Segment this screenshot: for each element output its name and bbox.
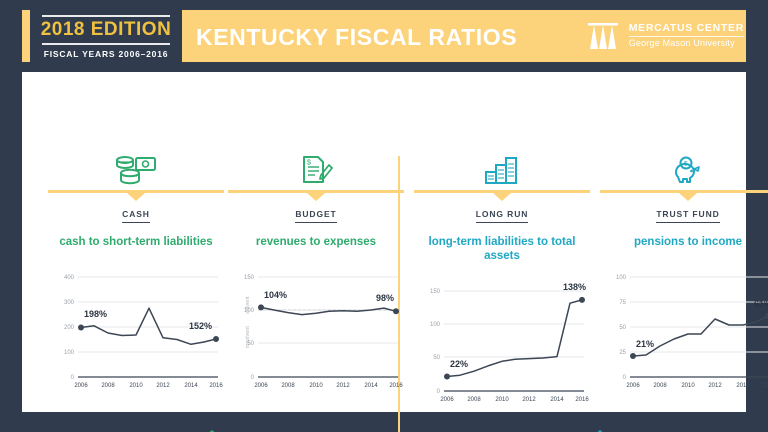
panel-cash: CASH cash to short-term liabilities 4003…: [48, 152, 224, 395]
end-point: [213, 336, 219, 342]
y-axis-ticks: 150100 500: [430, 289, 441, 395]
start-point: [258, 304, 264, 310]
logo-divider: [629, 36, 744, 37]
svg-text:2016: 2016: [761, 383, 768, 389]
start-point: [444, 374, 450, 380]
panel-gold-rule: [228, 190, 404, 193]
budget-document-icon: $: [228, 152, 404, 188]
svg-text:100: 100: [616, 275, 627, 281]
svg-text:300: 300: [64, 300, 75, 306]
chart-long-run-svg: 150100 500 200620082010 201220142016 22%…: [414, 279, 590, 409]
panel-label-budget: BUDGET: [228, 209, 404, 219]
svg-text:200: 200: [64, 325, 75, 331]
svg-text:2008: 2008: [101, 383, 115, 389]
svg-text:2016: 2016: [389, 383, 403, 389]
content-sheet: CASH cash to short-term liabilities 4003…: [22, 72, 746, 412]
panel-title-long-run: long-term liabilities to total assets: [414, 235, 590, 263]
chart-trust-fund-svg: 10075 5025 0 200620082010 201220142016 2…: [600, 265, 768, 395]
edition-badge-title: 2018 EDITION: [30, 17, 182, 41]
x-axis-ticks: 200620082010 201220142016: [626, 383, 768, 389]
svg-text:50: 50: [433, 355, 440, 361]
start-value-label: 198%: [84, 309, 107, 319]
chart-budget-svg: 150100 500 solvent insolvent 20062008201…: [228, 265, 404, 395]
svg-text:$: $: [307, 160, 311, 167]
chart-budget: 150100 500 solvent insolvent 20062008201…: [228, 265, 404, 395]
series-line: [633, 316, 768, 356]
panel-trust-fund: $ TRUST FUND pensions to income: [600, 152, 768, 395]
panel-label-trust-fund: TRUST FUND: [600, 209, 768, 219]
page-title: KENTUCKY FISCAL RATIOS: [196, 24, 517, 51]
svg-text:2008: 2008: [467, 397, 481, 403]
svg-text:2012: 2012: [336, 383, 350, 389]
logo-name: MERCATUS CENTER: [629, 22, 744, 34]
svg-text:2010: 2010: [681, 383, 695, 389]
svg-text:2008: 2008: [281, 383, 295, 389]
svg-text:2016: 2016: [209, 383, 223, 389]
end-point: [579, 297, 585, 303]
svg-text:0: 0: [623, 375, 627, 381]
svg-text:0: 0: [71, 375, 75, 381]
end-point: [393, 308, 399, 314]
svg-text:$: $: [684, 161, 688, 168]
gridlines: [444, 291, 584, 357]
svg-text:2012: 2012: [708, 383, 722, 389]
svg-text:150: 150: [430, 289, 441, 295]
edition-badge-subtitle: FISCAL YEARS 2006–2016: [30, 45, 182, 59]
infographic-page: 2018 EDITION FISCAL YEARS 2006–2016 KENT…: [0, 0, 768, 432]
y-axis-ticks: 10075 5025 0: [616, 275, 627, 381]
svg-text:2012: 2012: [156, 383, 170, 389]
svg-text:100: 100: [64, 350, 75, 356]
chart-cash-svg: 400300 200100 0 200620082010 20122014201…: [48, 265, 224, 395]
edition-badge: 2018 EDITION FISCAL YEARS 2006–2016: [30, 10, 182, 62]
svg-text:150: 150: [244, 275, 255, 281]
svg-text:100: 100: [430, 322, 441, 328]
y-axis-ticks: 400300 200100 0: [64, 275, 75, 381]
svg-text:0: 0: [251, 375, 255, 381]
x-axis-ticks: 200620082010 201220142016: [74, 383, 223, 389]
svg-text:2006: 2006: [254, 383, 268, 389]
svg-text:2014: 2014: [736, 383, 750, 389]
panel-gold-rule: [414, 190, 590, 193]
start-value-label: 21%: [636, 339, 654, 349]
start-value-label: 104%: [264, 290, 287, 300]
panel-budget: $ BUDGET revenues to expenses 150100: [228, 152, 404, 395]
svg-text:2012: 2012: [522, 397, 536, 403]
chart-long-run: 150100 500 200620082010 201220142016 22%…: [414, 279, 590, 409]
svg-text:50: 50: [619, 325, 626, 331]
svg-text:2006: 2006: [74, 383, 88, 389]
header: 2018 EDITION FISCAL YEARS 2006–2016 KENT…: [0, 0, 768, 72]
chart-cash: 400300 200100 0 200620082010 20122014201…: [48, 265, 224, 395]
mercatus-logo-text: MERCATUS CENTER George Mason University: [629, 22, 744, 49]
trust-fund-piggy-bank-icon: $: [600, 152, 768, 188]
start-point: [630, 353, 636, 359]
svg-text:2014: 2014: [550, 397, 564, 403]
end-value-label: 98%: [376, 293, 394, 303]
svg-text:400: 400: [64, 275, 75, 281]
svg-text:2006: 2006: [440, 397, 454, 403]
panel-title-cash: cash to short-term liabilities: [48, 235, 224, 249]
mercatus-logo: MERCATUS CENTER George Mason University: [588, 22, 744, 49]
svg-text:2010: 2010: [309, 383, 323, 389]
svg-text:2008: 2008: [653, 383, 667, 389]
cash-money-icon: [48, 152, 224, 188]
chart-trust-fund: 10075 5025 0 200620082010 201220142016 2…: [600, 265, 768, 395]
panel-long-run: LONG RUN long-term liabilities to total …: [414, 152, 590, 409]
panel-label-long-run: LONG RUN: [414, 209, 590, 219]
svg-text:75: 75: [619, 300, 626, 306]
mercatus-logo-mark-icon: [588, 23, 622, 49]
x-axis-ticks: 200620082010 201220142016: [440, 397, 589, 403]
svg-text:0: 0: [437, 389, 441, 395]
svg-text:2010: 2010: [495, 397, 509, 403]
panel-title-budget: revenues to expenses: [228, 235, 404, 249]
long-run-bars-icon: [414, 152, 590, 188]
start-value-label: 22%: [450, 359, 468, 369]
svg-text:2016: 2016: [575, 397, 589, 403]
axis-annotation-solvent: solvent: [245, 296, 251, 314]
axis-annotation-insolvent: insolvent: [245, 326, 251, 348]
svg-text:2006: 2006: [626, 383, 640, 389]
x-axis-ticks: 200620082010 201220142016: [254, 383, 403, 389]
end-value-label: 152%: [189, 321, 212, 331]
logo-subtitle: George Mason University: [629, 38, 744, 49]
start-point: [78, 325, 84, 331]
svg-text:2010: 2010: [129, 383, 143, 389]
panel-title-trust-fund: pensions to income: [600, 235, 768, 249]
panel-gold-rule: [600, 190, 768, 193]
panel-gold-rule: [48, 190, 224, 193]
svg-text:25: 25: [619, 350, 626, 356]
series-line: [261, 307, 396, 314]
svg-text:2014: 2014: [364, 383, 378, 389]
panel-label-cash: CASH: [48, 209, 224, 219]
end-value-label: 138%: [563, 282, 586, 292]
svg-text:2014: 2014: [184, 383, 198, 389]
end-value-label: 61%: [754, 299, 768, 309]
